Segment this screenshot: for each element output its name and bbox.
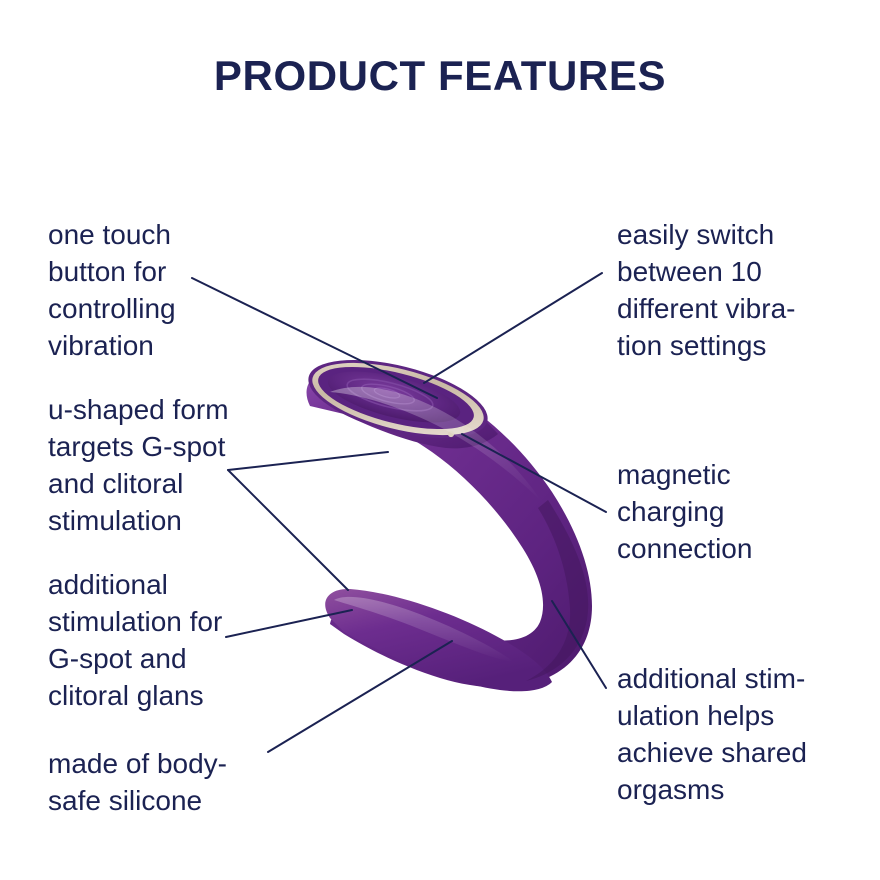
callout-shared-orgasms: additional stim- ulation helps achieve s…	[617, 660, 872, 808]
callout-vibration-settings: easily switch between 10 different vibra…	[617, 216, 867, 364]
callout-u-shaped-form: u-shaped form targets G-spot and clitora…	[48, 391, 308, 539]
callout-magnetic-charging: magnetic charging connection	[617, 456, 857, 567]
product-body	[301, 345, 592, 692]
callout-additional-stimulation: additional stimulation for G-spot and cl…	[48, 566, 298, 714]
callout-body-safe-silicone: made of body- safe silicone	[48, 745, 298, 819]
infographic-page: PRODUCT FEATURES	[0, 0, 880, 880]
callout-one-touch-button: one touch button for controlling vibrati…	[48, 216, 288, 364]
